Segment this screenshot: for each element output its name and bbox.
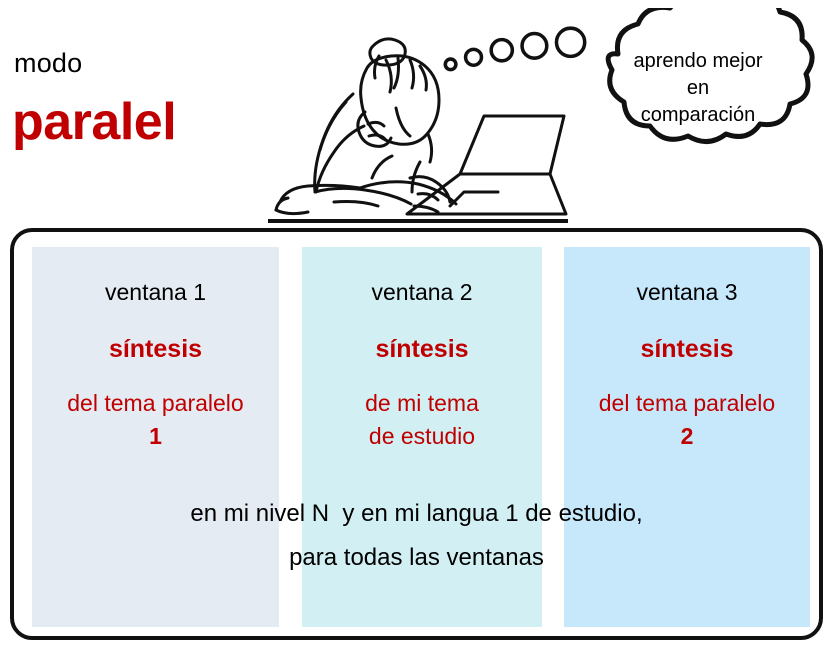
bubble-line-2: en (600, 75, 796, 102)
window-detail-2-line-1: de mi tema (302, 387, 542, 420)
window-label-3: ventana 3 (564, 279, 810, 306)
thought-dot-2 (466, 49, 482, 65)
window-detail-1-line-2: 1 (32, 420, 279, 453)
header-area: modo paralel (0, 0, 834, 228)
window-label-2: ventana 2 (302, 279, 542, 306)
thought-dot-3 (491, 40, 512, 61)
parallel-mode-panel: ventana 1 síntesis del tema paralelo 1 v… (10, 228, 823, 640)
window-detail-3: del tema paralelo 2 (564, 387, 810, 453)
synthesis-label-1: síntesis (32, 335, 279, 364)
bubble-line-3: comparación (600, 102, 796, 129)
window-detail-1-line-1: del tema paralelo (32, 387, 279, 420)
window-column-2[interactable]: ventana 2 síntesis de mi tema de estudio (302, 247, 542, 627)
bubble-line-1: aprendo mejor (600, 48, 796, 75)
window-detail-1: del tema paralelo 1 (32, 387, 279, 453)
thought-bubble: aprendo mejor en comparación (566, 8, 828, 168)
mode-label: modo (14, 48, 82, 79)
window-detail-3-line-1: del tema paralelo (564, 387, 810, 420)
window-detail-3-line-2: 2 (564, 420, 810, 453)
thought-dot-1 (445, 59, 456, 70)
thought-dot-4 (522, 33, 547, 58)
synthesis-label-3: síntesis (564, 335, 810, 364)
window-column-3[interactable]: ventana 3 síntesis del tema paralelo 2 (564, 247, 810, 627)
mode-title: paralel (12, 92, 176, 152)
windows-columns: ventana 1 síntesis del tema paralelo 1 v… (32, 247, 810, 627)
window-column-1[interactable]: ventana 1 síntesis del tema paralelo 1 (32, 247, 279, 627)
window-detail-2: de mi tema de estudio (302, 387, 542, 453)
synthesis-label-2: síntesis (302, 335, 542, 364)
thought-bubble-text: aprendo mejor en comparación (600, 48, 796, 129)
window-label-1: ventana 1 (32, 279, 279, 306)
window-detail-2-line-2: de estudio (302, 420, 542, 453)
